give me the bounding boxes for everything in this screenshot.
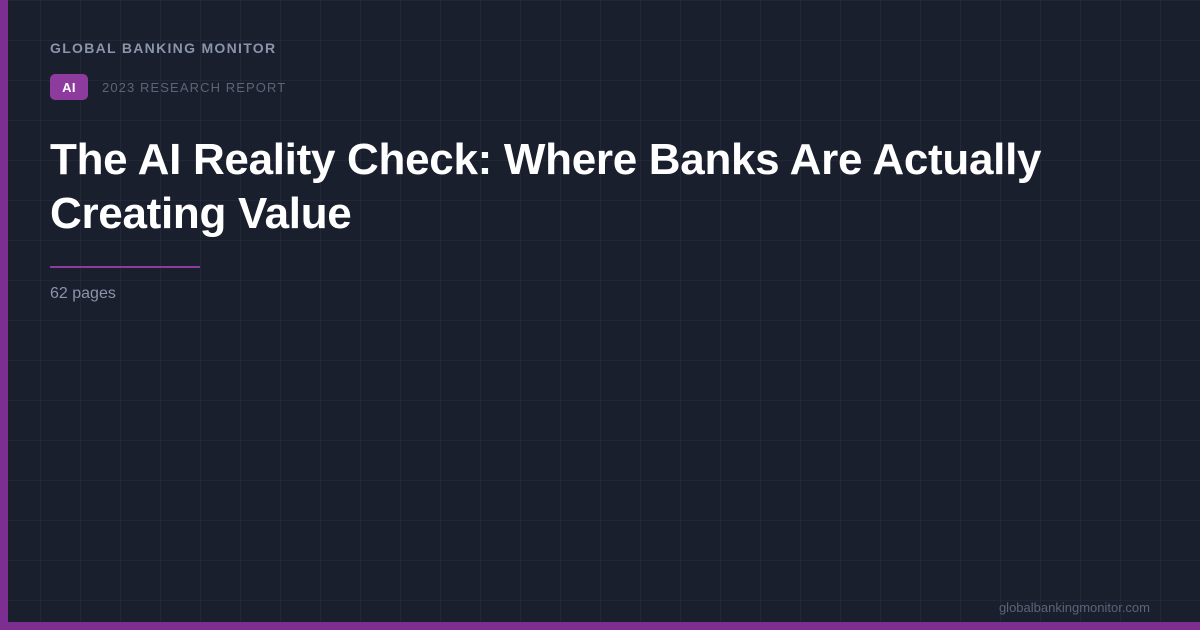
kicker-row: AI 2023 RESEARCH REPORT: [50, 74, 286, 100]
page-title: The AI Reality Check: Where Banks Are Ac…: [50, 133, 1050, 241]
left-accent-bar: [0, 0, 8, 630]
publication-name: GLOBAL BANKING MONITOR: [50, 40, 276, 56]
report-cover-card: GLOBAL BANKING MONITOR AI 2023 RESEARCH …: [0, 0, 1200, 630]
title-divider: [50, 266, 200, 268]
ai-badge: AI: [50, 74, 88, 100]
page-count: 62 pages: [50, 285, 116, 303]
report-type-label: 2023 RESEARCH REPORT: [102, 80, 286, 95]
card-content: GLOBAL BANKING MONITOR AI 2023 RESEARCH …: [50, 0, 1150, 630]
footer-site-url: globalbankingmonitor.com: [999, 600, 1150, 615]
